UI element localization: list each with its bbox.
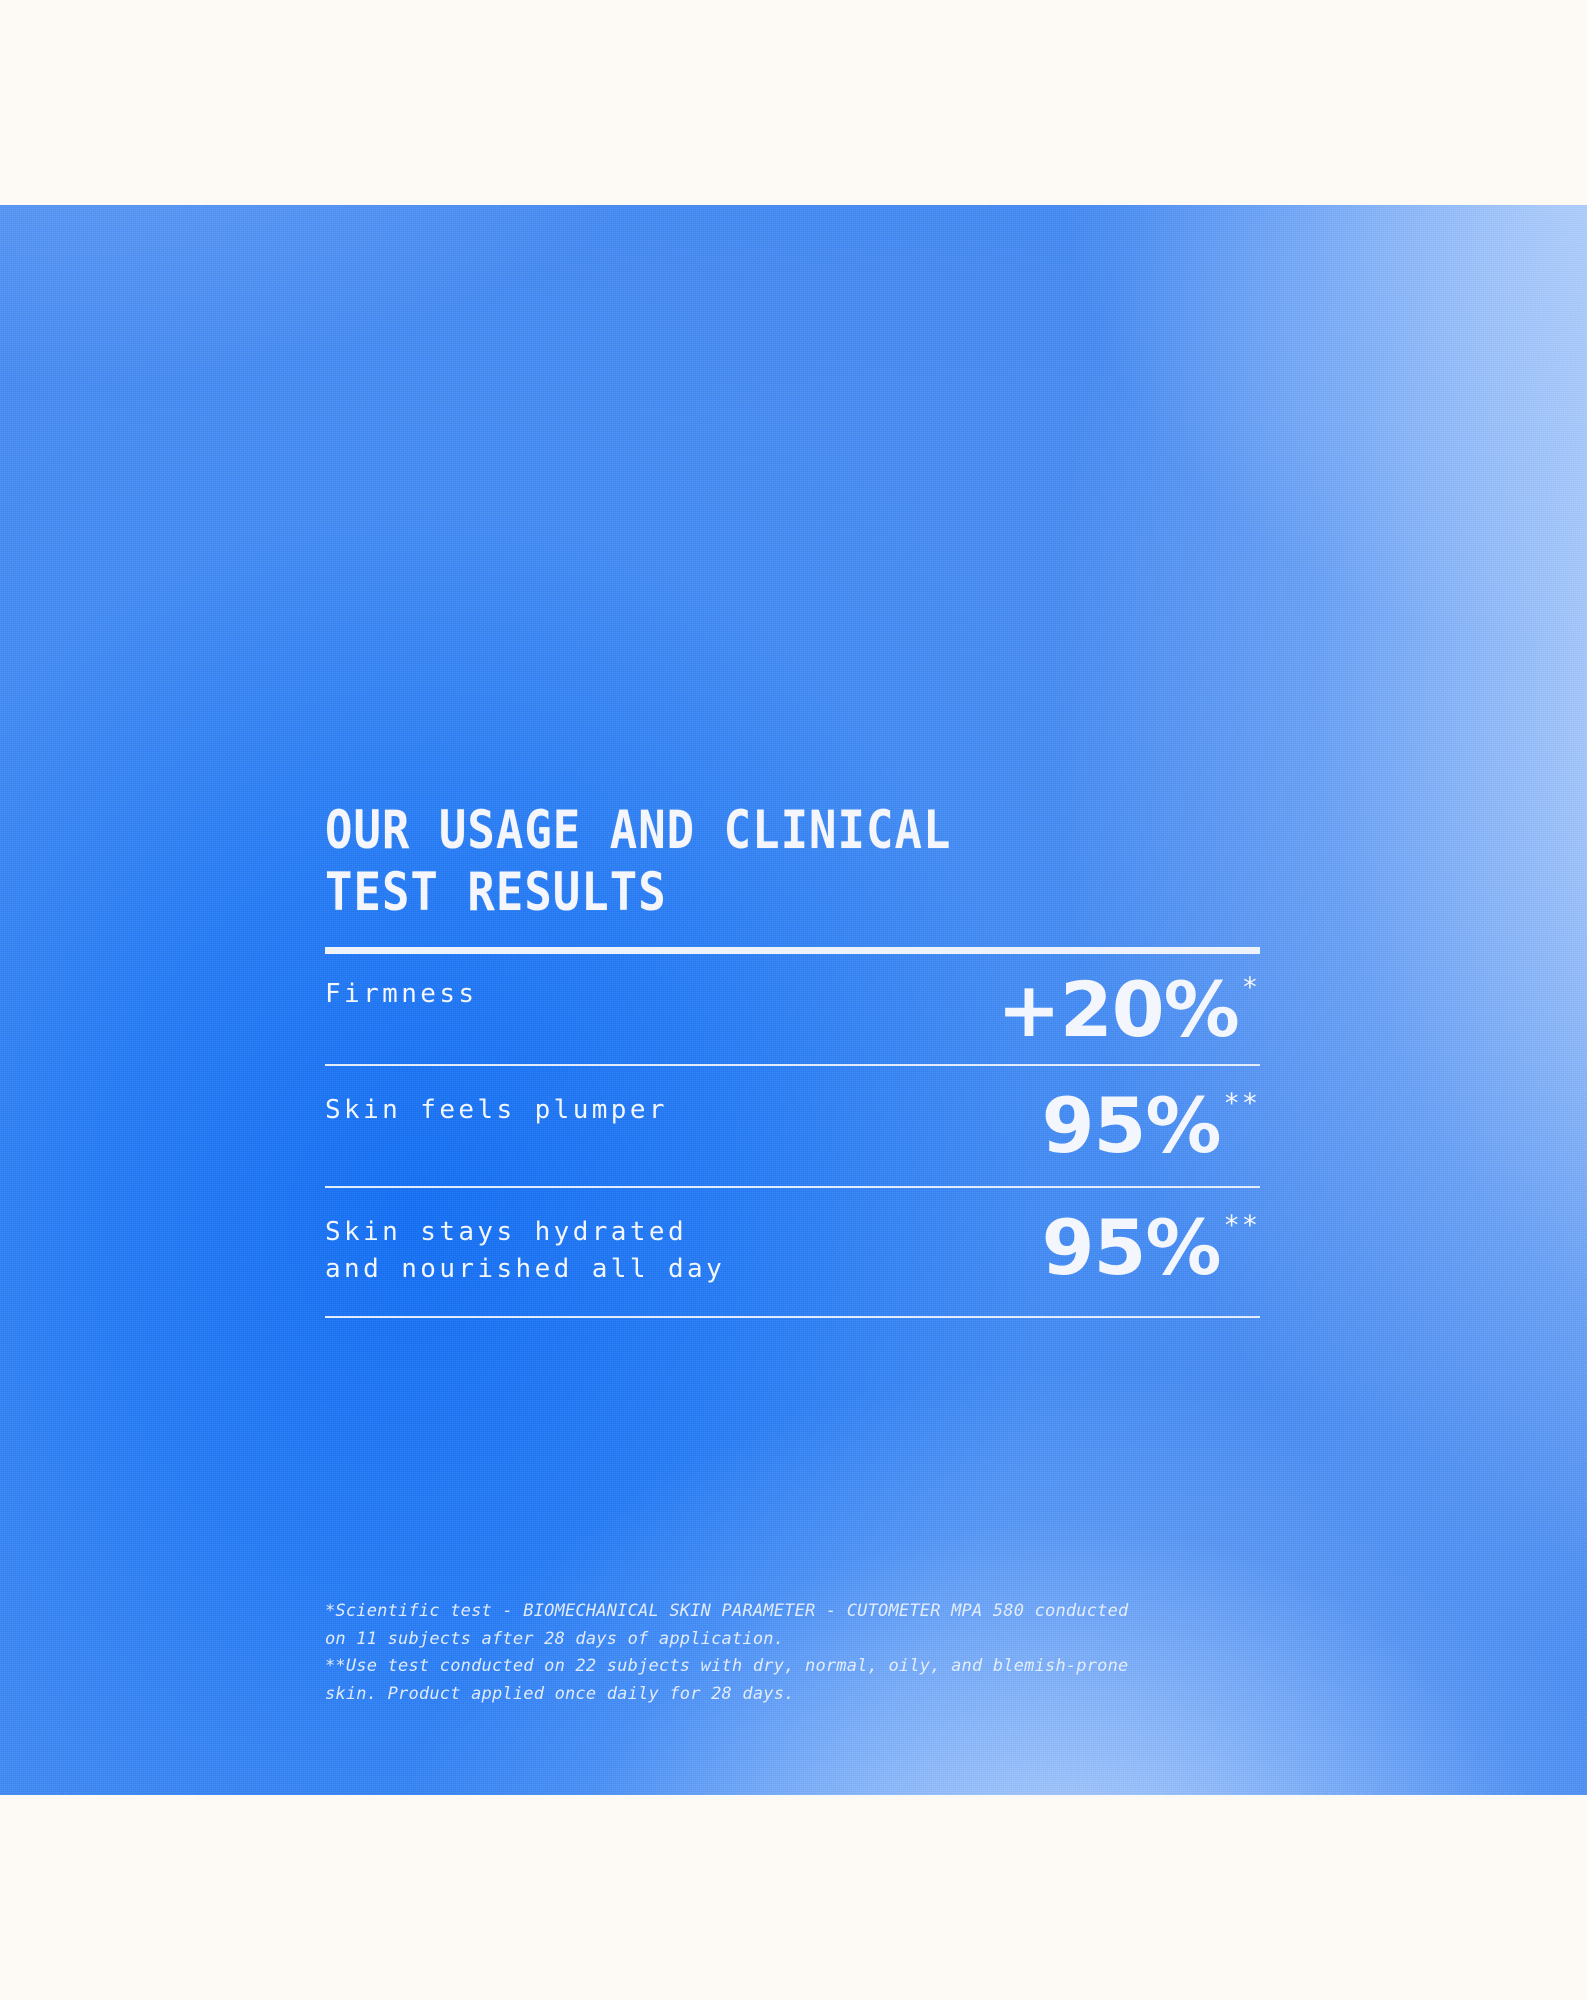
result-label: Skin feels plumper [325, 1088, 668, 1129]
result-footnote-marker: ** [1223, 1090, 1260, 1117]
result-value-number: 95% [1042, 1088, 1221, 1164]
title-divider [325, 947, 1260, 954]
result-label: Skin stays hydrated and nourished all da… [325, 1210, 725, 1288]
result-value: 95%** [1042, 1210, 1260, 1286]
results-block: OUR USAGE AND CLINICAL TEST RESULTS Firm… [325, 800, 1260, 1318]
result-row-firmness: Firmness +20%* [325, 954, 1260, 1064]
page-title: OUR USAGE AND CLINICAL TEST RESULTS [325, 800, 1129, 924]
footnote-disclaimer: *Scientific test - BIOMECHANICAL SKIN PA… [325, 1598, 1265, 1708]
result-footnote-marker: * [1242, 974, 1260, 1001]
result-value: +20%* [997, 972, 1260, 1048]
result-row-hydrated: Skin stays hydrated and nourished all da… [325, 1188, 1260, 1316]
result-row-plumper: Skin feels plumper 95%** [325, 1066, 1260, 1186]
result-label: Firmness [325, 972, 477, 1013]
result-value-number: 95% [1042, 1210, 1221, 1286]
result-value-number: +20% [997, 972, 1239, 1048]
result-footnote-marker: ** [1223, 1212, 1260, 1239]
result-value: 95%** [1042, 1088, 1260, 1164]
page-canvas: OUR USAGE AND CLINICAL TEST RESULTS Firm… [0, 0, 1587, 2000]
gradient-panel: OUR USAGE AND CLINICAL TEST RESULTS Firm… [0, 205, 1587, 1795]
row-divider-3 [325, 1316, 1260, 1318]
